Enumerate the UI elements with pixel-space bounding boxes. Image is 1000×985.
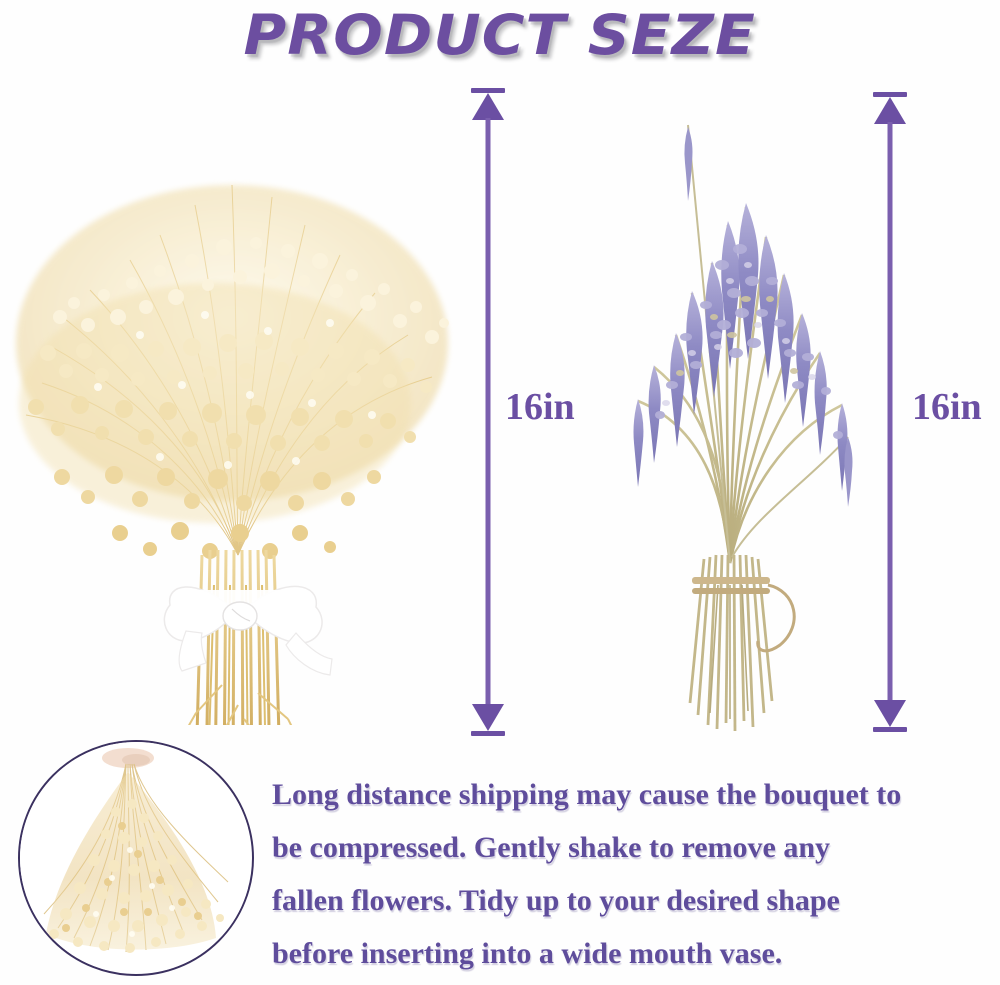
dimension-cap-bottom: [471, 731, 505, 736]
dimension-label-left: 16in: [505, 385, 575, 429]
inset-hanging-bunch: [18, 740, 254, 976]
arrow-down-icon: [874, 700, 906, 727]
description-line-3: fallen flowers. Tidy up to your desired …: [272, 874, 984, 927]
product-size-infographic: PRODUCT SEZE: [0, 0, 1000, 985]
description-line-1: Long distance shipping may cause the bou…: [272, 768, 984, 821]
dimension-cap-bottom: [873, 727, 907, 732]
description-line-2: be compressed. Gently shake to remove an…: [272, 821, 984, 874]
product-image-lavender: [580, 85, 880, 733]
arrow-up-icon: [472, 93, 504, 120]
dimension-arrow-left: [470, 88, 506, 736]
dimension-arrow-right: [872, 92, 908, 732]
product-image-babys-breath: [0, 85, 455, 725]
ribbon-bow: [164, 586, 332, 675]
dimension-line: [888, 122, 893, 702]
dimension-label-right: 16in: [912, 385, 982, 429]
arrow-up-icon: [874, 97, 906, 124]
description-line-4: before inserting into a wide mouth vase.: [272, 927, 984, 980]
title-bar: PRODUCT SEZE: [0, 0, 1000, 70]
description-text: Long distance shipping may cause the bou…: [272, 768, 984, 980]
dimension-line: [486, 118, 491, 706]
arrow-down-icon: [472, 704, 504, 731]
page-title: PRODUCT SEZE: [244, 3, 756, 67]
